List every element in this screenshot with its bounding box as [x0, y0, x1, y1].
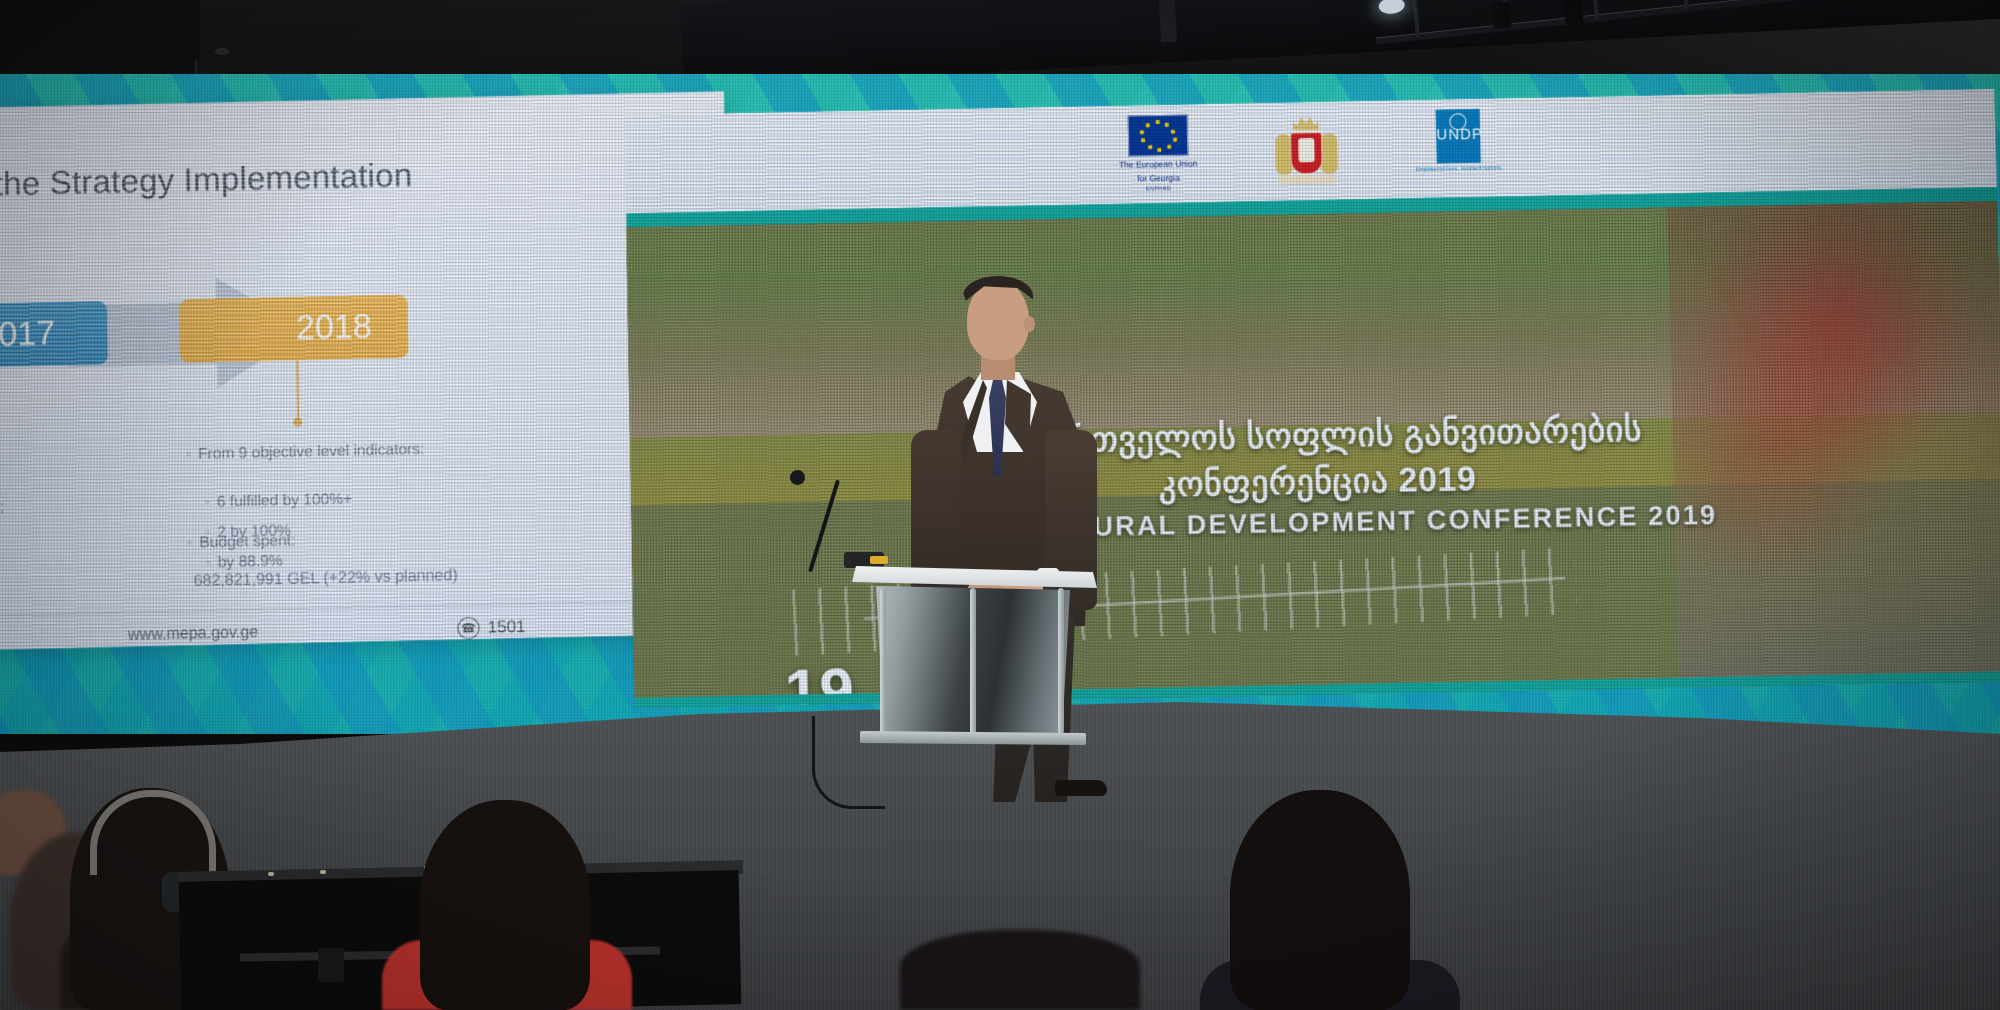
- screenshot-root: ults of the Strategy Implementation 2017…: [0, 0, 2000, 1010]
- eu-flag-icon: [1127, 114, 1188, 156]
- right-presentation-slide: The European Union for Georgia ENPARD: [624, 89, 2000, 708]
- podium-top-surface: [852, 566, 1097, 588]
- footer-phone-number: 1501: [487, 617, 525, 638]
- footer-phone: ☎ 1501: [457, 616, 525, 640]
- eu-enpard-label: ENPARD: [1119, 185, 1198, 193]
- connector-dot-2018: [293, 417, 302, 426]
- footer-divider: [0, 601, 654, 619]
- autumn-landscape-photo: საქართველოს სოფლის განვითარების კონფერენ…: [626, 201, 2000, 708]
- undp-tagline: Empowered lives. Resilient nations.: [1416, 165, 1503, 174]
- budget-spent-label: Budget spent:: [187, 532, 296, 552]
- smoke-detector-icon: [215, 48, 229, 55]
- stage-light-icon: [1491, 1, 1512, 29]
- year-2018-label: 2018: [296, 307, 372, 348]
- podium-cable: [812, 716, 885, 809]
- ceiling-pipe: [1159, 0, 1177, 42]
- phone-icon: ☎: [457, 617, 479, 640]
- right-column-2018: From 9 objective level indicators: 6 ful…: [185, 433, 528, 579]
- stage-light-icon: [1563, 0, 1584, 26]
- year-badge-2017: 2017: [0, 301, 108, 369]
- audience-head: [420, 800, 590, 1010]
- left-column-2017: r level indicators: d by 100% or 100%+; …: [0, 440, 169, 586]
- right-column-heading: From 9 objective level indicators:: [185, 433, 526, 471]
- eu-caption-line2: for Georgia: [1119, 172, 1198, 185]
- year-2017-label: 2017: [0, 314, 55, 355]
- eu-flag-logo: The European Union for Georgia ENPARD: [1118, 114, 1198, 193]
- microphone-icon: [790, 470, 805, 485]
- undp-logo: UNDP Empowered lives. Resilient nations.: [1414, 108, 1502, 174]
- footer-website: www.mepa.gov.ge: [128, 624, 258, 645]
- audience-head: [900, 930, 1140, 1010]
- podium: [852, 566, 1097, 744]
- connector-line-2018: [296, 360, 299, 420]
- left-column-item: lled.: [0, 549, 169, 586]
- eu-caption-line1: The European Union: [1119, 158, 1198, 171]
- stage-light-icon: [1378, 0, 1406, 15]
- coat-of-arms-icon: [1270, 111, 1342, 186]
- podium-marker: [870, 556, 888, 564]
- year-badge-2018: 2018: [179, 295, 408, 363]
- left-column-heading: r level indicators:: [0, 440, 168, 477]
- podium-base: [860, 731, 1086, 745]
- audience-head: [1230, 790, 1410, 1010]
- slide-title: ults of the Strategy Implementation: [0, 156, 413, 205]
- undp-icon: UNDP: [1436, 109, 1481, 164]
- georgia-coat-of-arms-logo: [1270, 111, 1342, 186]
